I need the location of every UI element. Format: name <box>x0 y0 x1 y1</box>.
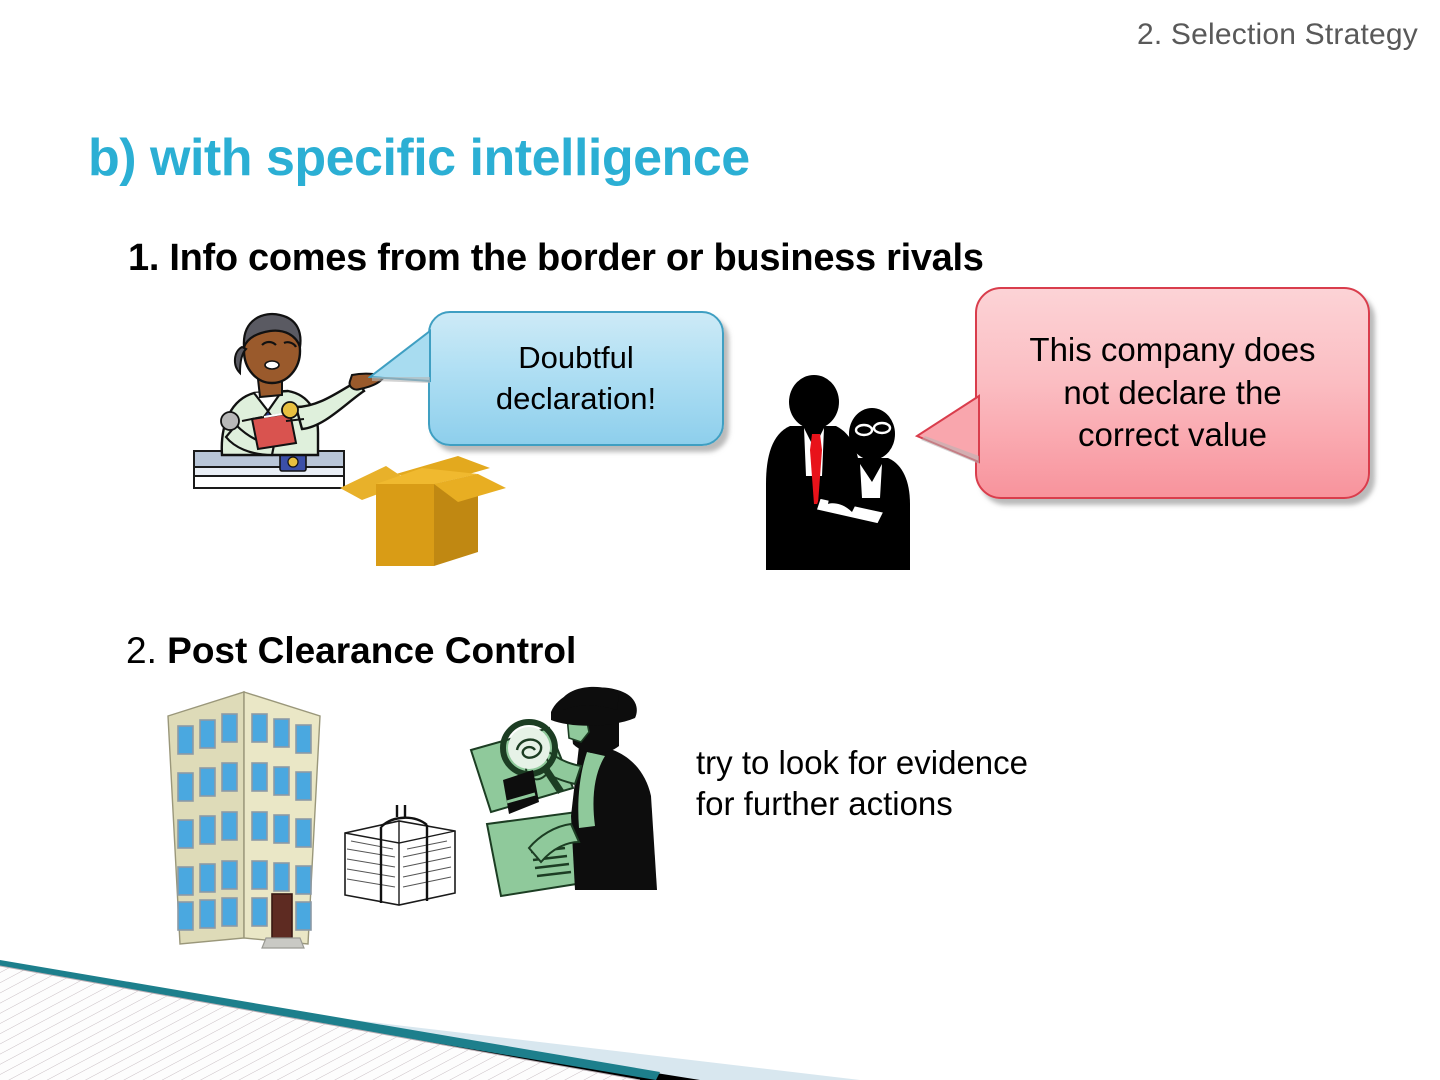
officer-speech-bubble: Doubtful declaration! <box>428 311 724 446</box>
page-title: b) with specific intelligence <box>88 128 750 188</box>
business-rivals-icon <box>760 372 925 572</box>
bubble-line-3: correct value <box>1078 416 1267 453</box>
slide-canvas: 2. Selection Strategy b) with specific i… <box>0 0 1440 1080</box>
bubble-line-1: Doubtful <box>518 340 633 375</box>
section-2-heading: 2. Post Clearance Control <box>126 630 576 672</box>
bubble-tail-icon <box>368 329 432 393</box>
section-2-label: Post Clearance Control <box>167 630 576 671</box>
slide-header-title: 2. Selection Strategy <box>1137 18 1418 52</box>
evidence-note: try to look for evidence for further act… <box>696 742 1028 825</box>
section-1-heading: 1. Info comes from the border or busines… <box>128 237 984 280</box>
bubble-line-2: not declare the <box>1063 374 1281 411</box>
slide-corner-decoration <box>0 850 1440 1080</box>
evidence-line-1: try to look for evidence <box>696 742 1028 783</box>
evidence-line-2: for further actions <box>696 783 1028 824</box>
rivals-speech-text: This company does not declare the correc… <box>1029 329 1315 458</box>
officer-speech-text: Doubtful declaration! <box>496 338 656 419</box>
section-2-number: 2. <box>126 630 157 671</box>
bubble-tail-icon <box>915 394 981 464</box>
rivals-speech-bubble: This company does not declare the correc… <box>975 287 1370 499</box>
bubble-line-2: declaration! <box>496 381 656 416</box>
open-box-icon <box>338 440 514 575</box>
bubble-line-1: This company does <box>1029 331 1315 368</box>
